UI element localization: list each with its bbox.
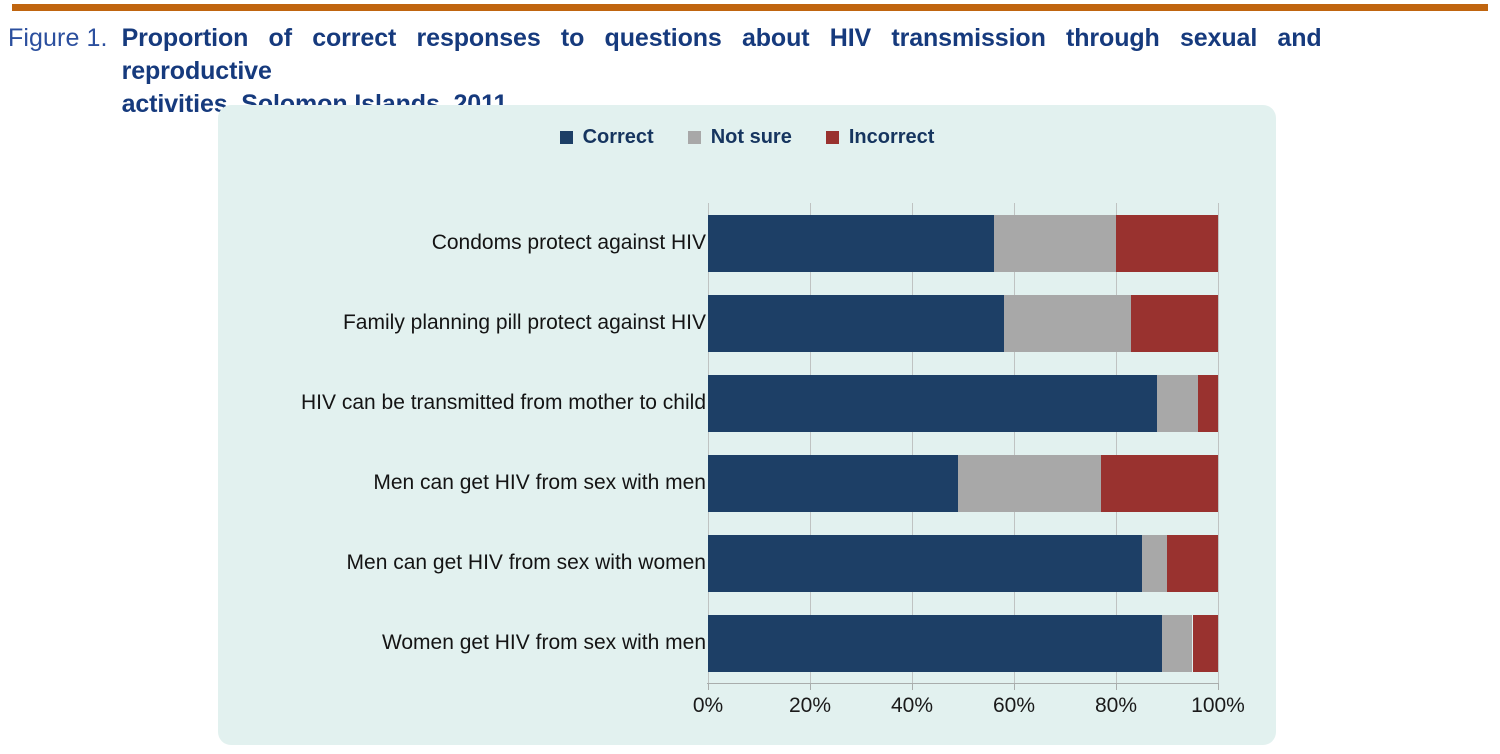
bar-row: Men can get HIV from sex with men [708,455,1218,512]
x-tick-mark [810,683,811,690]
gridline [1014,203,1015,683]
x-tick-label: 60% [993,694,1035,718]
bar-segment-correct[interactable] [708,455,958,512]
chart-legend: CorrectNot sureIncorrect [218,127,1276,147]
bar-segment-correct[interactable] [708,615,1162,672]
bar-segment-incorrect[interactable] [1101,455,1218,512]
legend-item-label: Correct [583,127,654,147]
bar-row: Family planning pill protect against HIV [708,295,1218,352]
square-swatch-icon [560,131,573,144]
gridline [1116,203,1117,683]
bar-segment-incorrect[interactable] [1167,535,1218,592]
gridline [708,203,709,683]
x-tick-mark [708,683,709,690]
legend-item-label: Incorrect [849,127,935,147]
bar-segment-not-sure[interactable] [1004,295,1132,352]
x-tick-mark [1116,683,1117,690]
bar-segment-correct[interactable] [708,535,1142,592]
bar-segment-incorrect[interactable] [1131,295,1218,352]
figure-number-label: Figure 1. [8,22,122,55]
category-label: Men can get HIV from sex with women [347,551,706,575]
legend-item-correct[interactable]: Correct [560,127,654,147]
x-tick-mark [1014,683,1015,690]
bar-segment-incorrect[interactable] [1193,615,1219,672]
bar-row: Women get HIV from sex with men [708,615,1218,672]
category-label: Family planning pill protect against HIV [343,311,706,335]
bar-segment-correct[interactable] [708,375,1157,432]
x-tick-label: 100% [1191,694,1245,718]
square-swatch-icon [688,131,701,144]
bar-segment-correct[interactable] [708,295,1004,352]
bar-segment-not-sure[interactable] [1142,535,1168,592]
x-tick-label: 20% [789,694,831,718]
legend-item-not-sure[interactable]: Not sure [688,127,792,147]
gridline [912,203,913,683]
bar-segment-incorrect[interactable] [1116,215,1218,272]
category-label: HIV can be transmitted from mother to ch… [301,391,706,415]
bar-row: Men can get HIV from sex with women [708,535,1218,592]
gridlines [708,203,1218,683]
gridline [810,203,811,683]
figure-title-line-1: Proportion of correct responses to quest… [122,22,1322,88]
bar-segment-not-sure[interactable] [958,455,1101,512]
x-tick-mark [912,683,913,690]
bar-row: HIV can be transmitted from mother to ch… [708,375,1218,432]
x-tick-label: 0% [693,694,723,718]
top-rule-divider [12,4,1488,11]
x-tick-label: 80% [1095,694,1137,718]
plot-area: 0%20%40%60%80%100% Condoms protect again… [708,203,1218,683]
bar-row: Condoms protect against HIV [708,215,1218,272]
square-swatch-icon [826,131,839,144]
category-label: Women get HIV from sex with men [382,631,706,655]
bar-segment-not-sure[interactable] [1162,615,1193,672]
chart-panel: CorrectNot sureIncorrect 0%20%40%60%80%1… [218,105,1276,745]
category-label: Condoms protect against HIV [432,231,706,255]
bar-segment-correct[interactable] [708,215,994,272]
x-axis-line [707,683,1219,684]
x-tick-label: 40% [891,694,933,718]
x-tick-mark [1218,683,1219,690]
category-label: Men can get HIV from sex with men [373,471,706,495]
bar-segment-incorrect[interactable] [1198,375,1218,432]
legend-item-incorrect[interactable]: Incorrect [826,127,935,147]
gridline [1218,203,1219,683]
bar-segment-not-sure[interactable] [994,215,1116,272]
legend-item-label: Not sure [711,127,792,147]
figure-page: Figure 1. Proportion of correct response… [0,0,1500,754]
bar-segment-not-sure[interactable] [1157,375,1198,432]
